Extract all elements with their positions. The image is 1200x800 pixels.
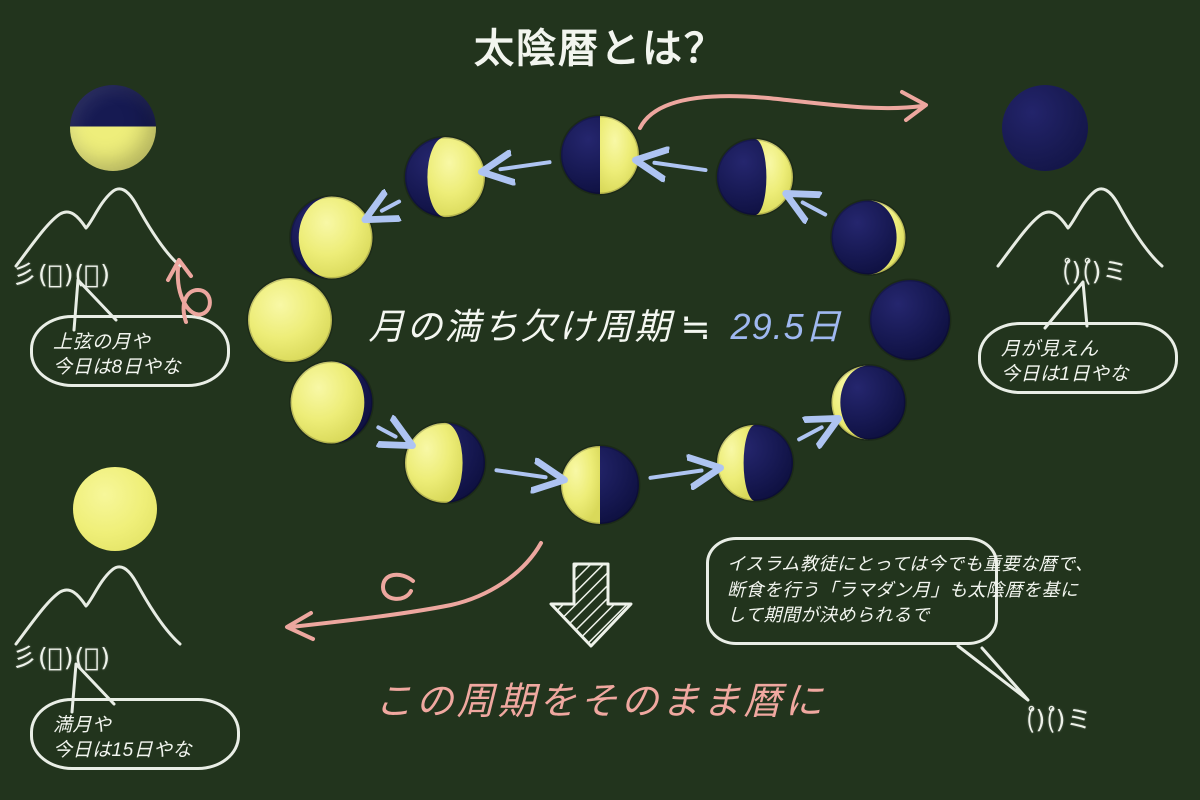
cycle-arrow bbox=[382, 202, 399, 211]
speech-bubble-info: イスラム教徒にとっては今でも重要な暦で、 断食を行う「ラマダン月」も太陰暦を基に… bbox=[706, 537, 998, 645]
infographic-canvas: 太陰暦とは？ 月の満ち欠け周期≒29.5日 彡(゚)(゚) bbox=[0, 0, 1200, 800]
moon-phase-new-moon bbox=[870, 280, 950, 360]
bubble-line: 今日は15日やな bbox=[53, 738, 219, 763]
moon-phase-waxing-crescent-1 bbox=[831, 201, 905, 275]
cycle-arrow bbox=[496, 470, 545, 477]
bubble-line: 今日は1日やな bbox=[1001, 362, 1157, 387]
moon-phase-waning-gibbous-2 bbox=[405, 423, 485, 503]
cycle-arrow bbox=[500, 162, 549, 169]
bubble-line: イスラム教徒にとっては今でも重要な暦で、 bbox=[727, 552, 977, 578]
kaomoji-lower-left: 彡(゚)(゚) bbox=[12, 638, 111, 674]
speech-bubble-upper-right: 月が見えん 今日は1日やな bbox=[978, 322, 1178, 394]
bubble-line: 断食を行う「ラマダン月」も太陰暦を基に bbox=[727, 578, 977, 604]
hatched-down-arrow-icon bbox=[545, 558, 641, 652]
cycle-arrow bbox=[378, 427, 395, 436]
moon-phase-waxing-gibbous-1 bbox=[405, 137, 485, 217]
kaomoji-upper-right: (゚)(゚)ミ bbox=[1062, 252, 1128, 288]
scene-moon-first-quarter bbox=[70, 85, 156, 171]
moon-phase-last-quarter bbox=[561, 446, 639, 524]
moon-phase-waning-crescent-1 bbox=[717, 425, 793, 501]
moon-phase-waning-gibbous-1 bbox=[291, 362, 373, 444]
pink-doodle-arrow-top bbox=[630, 86, 950, 158]
bottom-caption: この周期をそのまま暦に bbox=[0, 670, 1200, 725]
scene-moon-full bbox=[73, 467, 157, 551]
moon-phase-full-moon bbox=[248, 278, 332, 362]
pink-doodle-arrow-bottom bbox=[255, 535, 555, 645]
moon-phase-first-quarter bbox=[561, 116, 639, 194]
pink-doodle-arrow-left bbox=[160, 252, 230, 330]
bubble-line: 今日は8日やな bbox=[53, 355, 209, 380]
cycle-arrow bbox=[650, 471, 701, 478]
bubble-line: 月が見えん bbox=[1001, 337, 1157, 362]
mountain-silhouette-lower-left bbox=[8, 548, 198, 648]
moon-phase-waning-crescent-2 bbox=[831, 366, 905, 440]
cycle-arrow bbox=[654, 163, 705, 170]
moon-phase-waxing-gibbous-2 bbox=[291, 197, 373, 279]
bubble-line: して期間が決められるで bbox=[727, 603, 977, 629]
cycle-arrow bbox=[799, 427, 822, 439]
cycle-arrow bbox=[803, 202, 826, 214]
kaomoji-upper-left: 彡(゚)(゚) bbox=[12, 255, 111, 291]
bubble-line: 上弦の月や bbox=[53, 330, 209, 355]
scene-moon-new bbox=[1002, 85, 1088, 171]
